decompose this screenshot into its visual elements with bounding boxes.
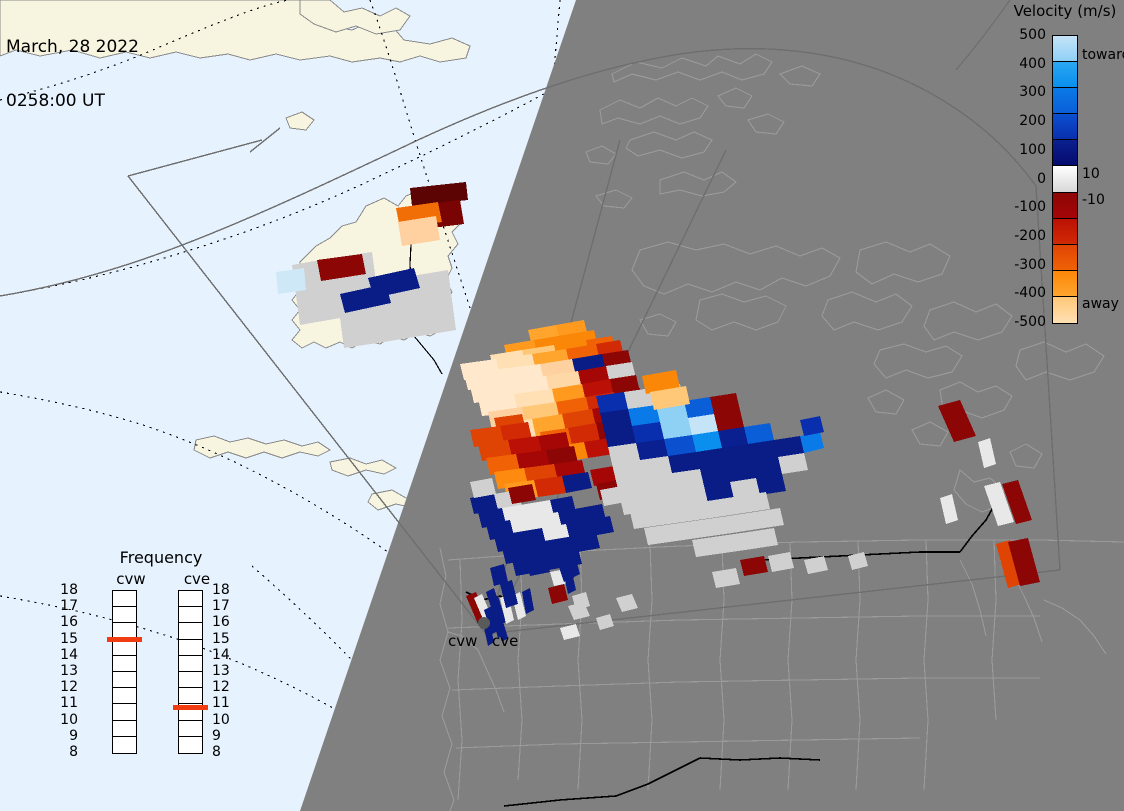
velocity-tick-200: 200 — [1019, 114, 1046, 128]
frequency-segment — [113, 721, 136, 737]
velocity-tick-500: 500 — [1019, 28, 1046, 42]
frequency-tick-cvw-14: 14 — [60, 648, 78, 662]
velocity-band-5 — [1053, 166, 1077, 192]
velocity-band-4 — [1053, 140, 1077, 166]
frequency-segment — [179, 656, 202, 672]
frequency-tick-cve-13: 13 — [212, 664, 230, 678]
velocity-band-8 — [1053, 245, 1077, 271]
frequency-segment — [113, 704, 136, 720]
frequency-tick-cve-12: 12 — [212, 680, 230, 694]
frequency-segment — [179, 623, 202, 639]
velocity-band-0 — [1053, 36, 1077, 62]
frequency-tick-cvw-8: 8 — [69, 745, 78, 759]
velocity-toward-label: toward — [1082, 48, 1124, 62]
radar-map-screenshot: March, 28 2022 0258:00 UT Velocity (m/s)… — [0, 0, 1124, 811]
frequency-tick-cve-9: 9 — [212, 729, 221, 743]
frequency-segment — [113, 672, 136, 688]
frequency-tick-cve-15: 15 — [212, 632, 230, 646]
frequency-segment — [179, 672, 202, 688]
frequency-bar-cve — [178, 590, 203, 754]
timestamp-time: 0258:00 UT — [6, 92, 139, 110]
velocity-tick-neg100: -100 — [1014, 200, 1046, 214]
frequency-panel-title: Frequency — [86, 548, 236, 567]
frequency-segment — [179, 688, 202, 704]
frequency-tick-cvw-12: 12 — [60, 680, 78, 694]
frequency-tick-cve-10: 10 — [212, 713, 230, 727]
frequency-tick-cve-8: 8 — [212, 745, 221, 759]
velocity-tick-0: 0 — [1037, 172, 1046, 186]
frequency-segment — [113, 656, 136, 672]
cell-toward-low — [276, 268, 306, 294]
frequency-segment — [113, 737, 136, 753]
frequency-segment — [113, 591, 136, 607]
frequency-tick-cvw-15: 15 — [60, 632, 78, 646]
velocity-tick-100: 100 — [1019, 143, 1046, 157]
frequency-tick-cvw-9: 9 — [69, 729, 78, 743]
frequency-segment — [179, 721, 202, 737]
frequency-marker-cvw — [107, 637, 142, 642]
velocity-tick-neg200: -200 — [1014, 229, 1046, 243]
frequency-tick-cvw-18: 18 — [60, 583, 78, 597]
velocity-tick-neg400: -400 — [1014, 286, 1046, 300]
velocity-plus10-label: 10 — [1082, 167, 1100, 181]
frequency-segment — [179, 737, 202, 753]
velocity-colorbar-legend: Velocity (m/s) 5004003002001000-100-200-… — [1006, 2, 1124, 332]
frequency-tick-cvw-16: 16 — [60, 615, 78, 629]
velocity-tick-neg500: -500 — [1014, 315, 1046, 329]
frequency-segment — [113, 640, 136, 656]
frequency-tick-cvw-10: 10 — [60, 713, 78, 727]
frequency-segment — [113, 688, 136, 704]
station-label-cvw: cvw — [448, 632, 477, 650]
velocity-away-label: away — [1082, 297, 1119, 311]
velocity-tick-neg300: -300 — [1014, 258, 1046, 272]
frequency-tick-cve-18: 18 — [212, 583, 230, 597]
frequency-tick-cvw-17: 17 — [60, 599, 78, 613]
velocity-colorbar — [1052, 35, 1078, 324]
velocity-band-6 — [1053, 193, 1077, 219]
frequency-column-name-cvw: cvw — [106, 570, 156, 588]
radar-site-marker — [478, 617, 490, 629]
frequency-segment — [113, 607, 136, 623]
velocity-minus10-label: -10 — [1082, 193, 1105, 207]
velocity-band-10 — [1053, 297, 1077, 323]
velocity-band-9 — [1053, 271, 1077, 297]
frequency-tick-cve-17: 17 — [212, 599, 230, 613]
frequency-tick-cve-11: 11 — [212, 696, 230, 710]
velocity-band-2 — [1053, 88, 1077, 114]
velocity-band-1 — [1053, 62, 1077, 88]
velocity-band-7 — [1053, 219, 1077, 245]
frequency-panel: Frequency cvw18171615141312111098cve1817… — [86, 548, 236, 798]
velocity-band-3 — [1053, 114, 1077, 140]
station-label-cve: cve — [492, 632, 518, 650]
frequency-bar-cvw — [112, 590, 137, 754]
frequency-marker-cve — [173, 705, 208, 710]
timestamp-date: March, 28 2022 — [6, 38, 139, 56]
frequency-tick-cve-16: 16 — [212, 615, 230, 629]
frequency-segment — [179, 591, 202, 607]
frequency-segment — [179, 607, 202, 623]
frequency-tick-cvw-13: 13 — [60, 664, 78, 678]
velocity-tick-300: 300 — [1019, 85, 1046, 99]
frequency-tick-cvw-11: 11 — [60, 696, 78, 710]
velocity-tick-labels: 5004003002001000-100-200-300-400-500 — [1006, 2, 1048, 332]
frequency-segment — [179, 640, 202, 656]
timestamp-label: March, 28 2022 0258:00 UT — [6, 2, 139, 146]
velocity-tick-400: 400 — [1019, 57, 1046, 71]
frequency-tick-cve-14: 14 — [212, 648, 230, 662]
